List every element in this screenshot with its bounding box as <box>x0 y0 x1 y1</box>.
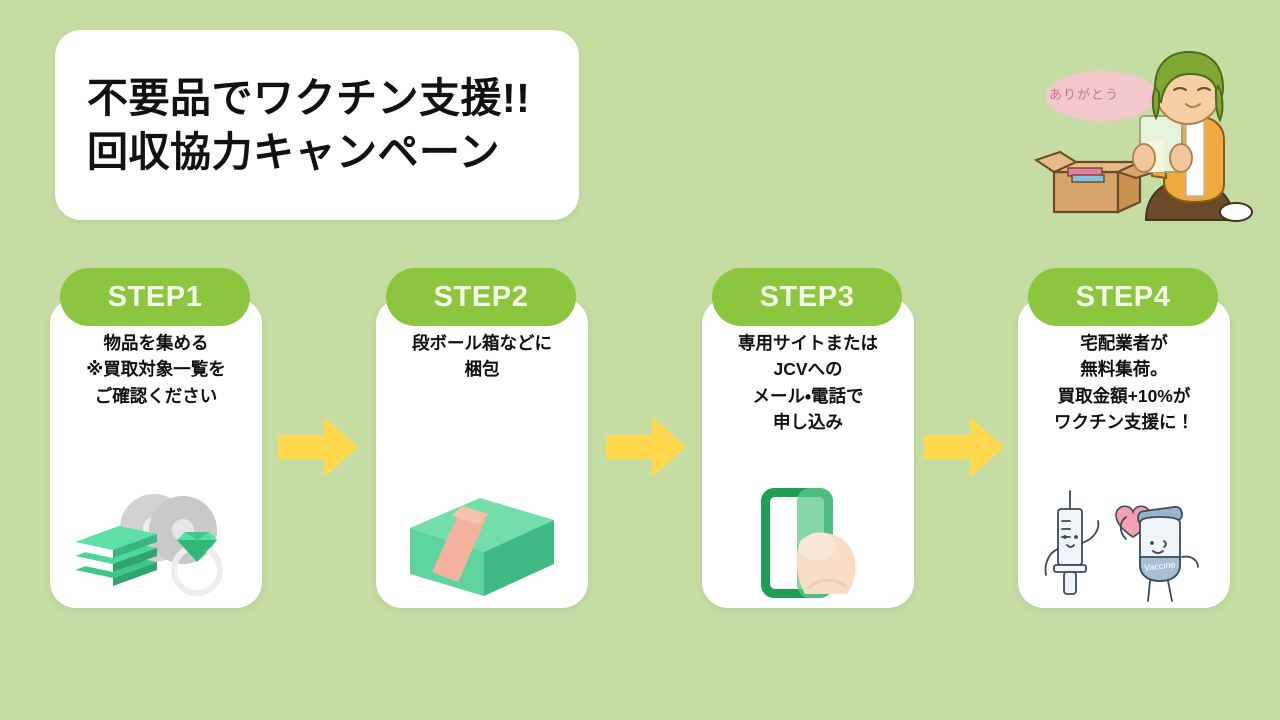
step-card-2[interactable]: STEP2 段ボール箱などに 梱包 <box>376 268 588 608</box>
girl-figure-shape <box>1133 52 1252 221</box>
syringe-character-shape <box>1046 491 1099 594</box>
step-4-text: 宅配業者が 無料集荷。 買取金額+10%が ワクチン支援に！ <box>1026 330 1222 435</box>
speech-bubble-shape <box>1046 71 1158 121</box>
step-3-badge: STEP3 <box>712 268 902 326</box>
step-1-badge: STEP1 <box>60 268 250 326</box>
step-3-line-1: 専用サイトまたは <box>710 330 906 356</box>
step-3-line-4: 申し込み <box>710 409 906 435</box>
arrow-step2-to-step3-icon <box>604 413 688 481</box>
cardboard-box-icon <box>376 467 588 602</box>
step-2-line-1: 段ボール箱などに <box>384 330 580 356</box>
step-card-4[interactable]: STEP4 宅配業者が 無料集荷。 買取金額+10%が ワクチン支援に！ <box>1018 268 1230 608</box>
infographic-canvas: 不要品でワクチン支援!! 回収協力キャンペーン <box>0 0 1280 720</box>
step-4-line-2: 無料集荷。 <box>1026 356 1222 382</box>
title-line-2: 回収協力キャンペーン <box>87 125 579 179</box>
step-3-line-3: メール・電話で <box>710 383 906 409</box>
step-1-line-2: ※買取対象一覧を <box>58 356 254 382</box>
step-2-text: 段ボール箱などに 梱包 <box>384 330 580 383</box>
step-card-1[interactable]: STEP1 物品を集める ※買取対象一覧を ご確認ください <box>50 268 262 608</box>
step-card-3[interactable]: STEP3 専用サイトまたは JCVへの メール・電話で 申し込み <box>702 268 914 608</box>
step-3-text: 専用サイトまたは JCVへの メール・電話で 申し込み <box>710 330 906 435</box>
step-2-line-2: 梱包 <box>384 356 580 382</box>
step-1-line-3: ご確認ください <box>58 383 254 409</box>
arrow-step3-to-step4-icon <box>922 413 1006 481</box>
step-3-line-2: JCVへの <box>710 356 906 382</box>
hand-holding-smartphone-icon <box>702 467 914 602</box>
step-4-line-4: ワクチン支援に！ <box>1026 409 1222 435</box>
step-1-line-1: 物品を集める <box>58 330 254 356</box>
syringe-and-vaccine-bottle-icon: Vaccine <box>1018 467 1230 602</box>
step-4-line-3: 買取金額+10%が <box>1026 383 1222 409</box>
step-4-line-1: 宅配業者が <box>1026 330 1222 356</box>
arrow-step1-to-step2-icon <box>276 413 360 481</box>
hero-illustration <box>1018 44 1274 230</box>
title-card: 不要品でワクチン支援!! 回収協力キャンペーン <box>55 30 579 220</box>
step-2-badge: STEP2 <box>386 268 576 326</box>
step-4-badge: STEP4 <box>1028 268 1218 326</box>
step-1-text: 物品を集める ※買取対象一覧を ご確認ください <box>58 330 254 409</box>
title-line-1: 不要品でワクチン支援!! <box>87 71 579 125</box>
books-discs-ring-icon <box>50 467 262 602</box>
